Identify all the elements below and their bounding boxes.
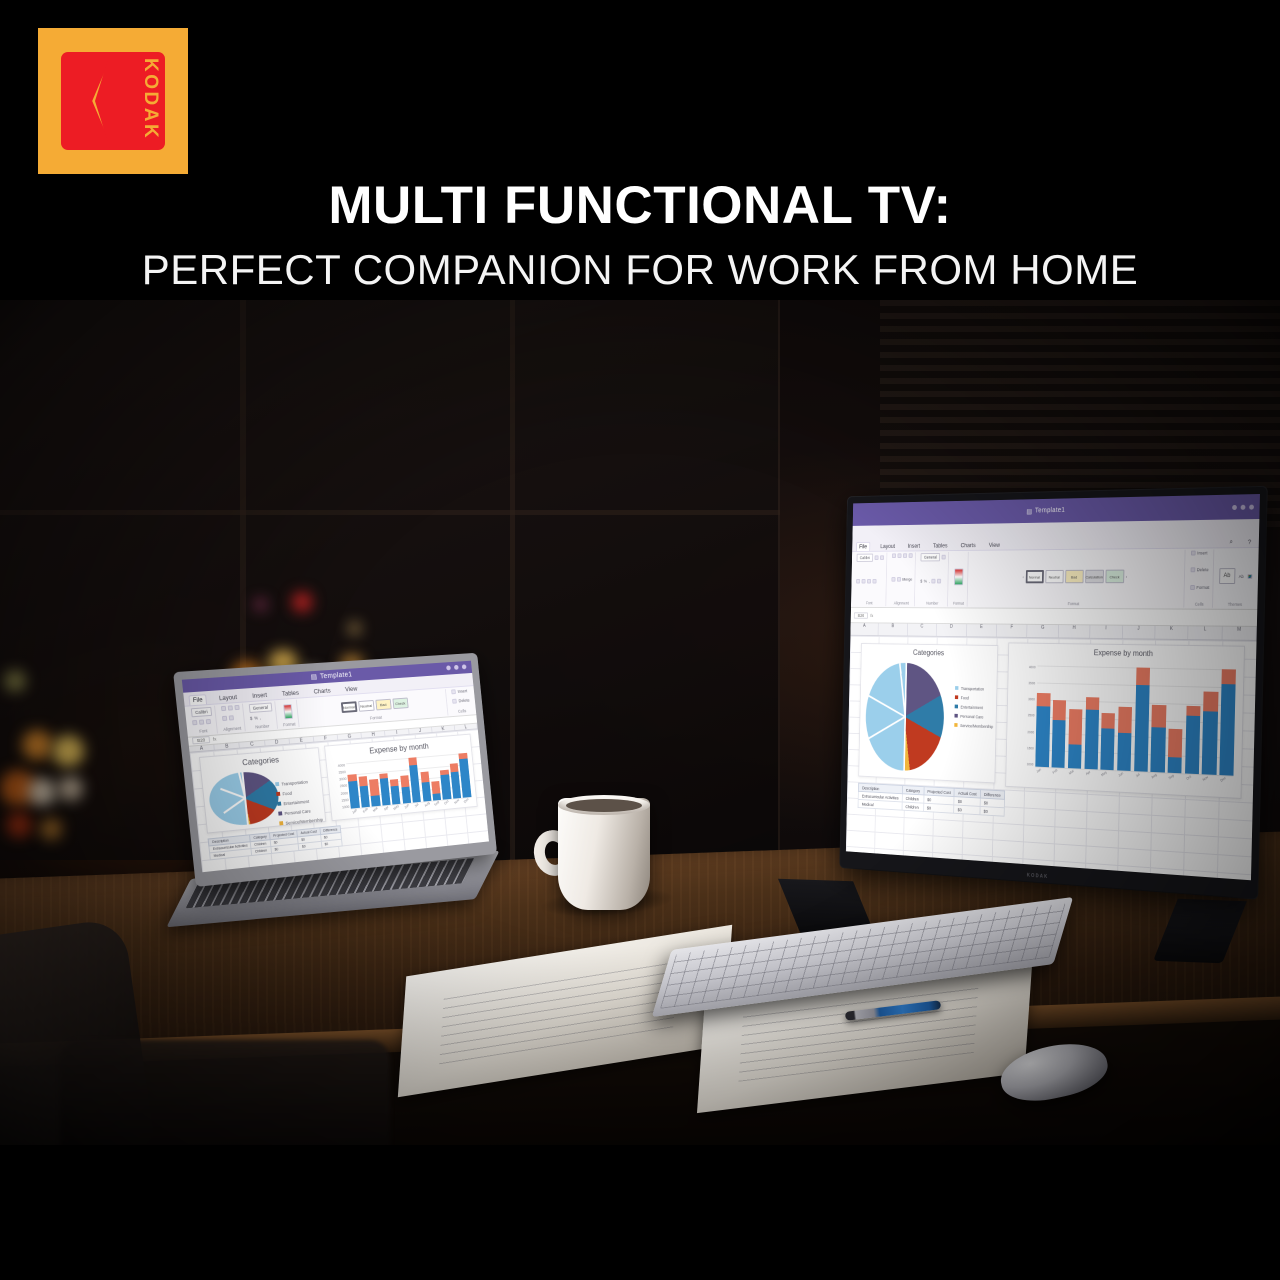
ribbon-group-label: Alignment [891, 601, 912, 606]
bar-segment-actual [1204, 692, 1219, 712]
ribbon-group-label: Font [856, 601, 883, 606]
underline-icon[interactable] [206, 719, 211, 724]
bar-segment-projected [1151, 727, 1166, 772]
style-normal[interactable]: Normal [341, 701, 358, 713]
app-title-text: Template1 [320, 671, 353, 680]
cell-difference[interactable]: $0 [980, 807, 1004, 817]
legend-item: Personal Care [278, 807, 322, 816]
column-header-j[interactable]: J [1122, 626, 1155, 639]
pie-graphic [865, 662, 945, 773]
page-subtitle: PERFECT COMPANION FOR WORK FROM HOME [0, 246, 1280, 294]
font-shrink-icon[interactable] [880, 555, 884, 560]
style-bad[interactable]: Bad [375, 699, 391, 711]
bokeh-light [4, 670, 26, 692]
name-box[interactable]: B20 [854, 612, 868, 618]
bar-segment-projected [1134, 685, 1150, 771]
bar-segment-actual [1168, 729, 1183, 757]
fill-color-icon[interactable] [873, 579, 877, 584]
bar-segment-projected [421, 781, 431, 801]
minimize-icon[interactable] [1232, 505, 1237, 510]
y-tick: 2000 [332, 791, 349, 796]
cell-category[interactable]: Children [902, 802, 924, 811]
bar-segment-projected [391, 786, 401, 805]
television: ▤ Template1 File Layout Insert [840, 487, 1267, 899]
bar-chart-body: 4000 3500 3000 2500 2000 1500 1000 [1006, 658, 1244, 798]
x-tick: Nov [1199, 773, 1219, 794]
ribbon-group-themes[interactable]: Ab Ab Themes [1215, 549, 1255, 608]
kodak-wordmark: KODAK [139, 58, 161, 140]
bokeh-light [292, 592, 312, 612]
kodak-k-mark: KODAK [61, 52, 165, 150]
delete-label: Delete [1197, 568, 1209, 573]
pie-chart-card[interactable]: Categories [199, 747, 326, 833]
percent-icon[interactable]: % [924, 579, 927, 584]
bar-chart-plot [1036, 666, 1237, 776]
bar-segment-projected [1185, 716, 1200, 774]
legend-item: Service/Membership [954, 723, 993, 729]
x-tick: Aug [423, 800, 433, 811]
tab-charts[interactable]: Charts [310, 686, 333, 696]
worksheet-grid[interactable]: Categories [190, 730, 489, 873]
bar-segment-projected [1101, 728, 1115, 769]
y-tick: 2000 [1010, 729, 1035, 734]
promo-scene: ▤ Template1 File Layout Insert [0, 0, 1280, 1280]
themes-icon[interactable]: Ab [1219, 568, 1235, 584]
legend-label: Transportation [281, 779, 308, 786]
bar-segment-projected [409, 764, 421, 802]
legend-label: Personal Care [960, 714, 983, 719]
column-header-c[interactable]: C [908, 624, 938, 636]
column-header-d[interactable]: D [937, 624, 967, 636]
bar-segment-actual [431, 781, 440, 794]
bar-oct [440, 770, 451, 800]
tab-tables[interactable]: Tables [930, 542, 950, 551]
gallery-next-icon[interactable]: › [1126, 574, 1127, 579]
bar-segment-projected [1068, 744, 1082, 768]
x-tick: Feb [1049, 766, 1067, 786]
ribbon-group-conditional[interactable]: Format [951, 552, 969, 607]
bokeh-light [40, 818, 62, 840]
ribbon-group-label: Number [920, 601, 945, 606]
close-icon[interactable] [1249, 504, 1254, 509]
y-tick: 3000 [1010, 697, 1035, 701]
ribbon-group-label: Cells [453, 708, 471, 714]
legend-label: Entertainment [283, 799, 309, 806]
help-icon[interactable]: ? [1245, 538, 1254, 547]
ribbon-group-styles[interactable]: ‹ Normal Neutral Bad Calculation Check › [970, 550, 1186, 608]
column-header-a[interactable]: A [850, 624, 879, 636]
ribbon-group-label: Themes [1218, 602, 1251, 607]
x-tick: Dec [463, 796, 473, 807]
name-box[interactable]: B20 [192, 736, 210, 744]
align-left-icon[interactable] [221, 706, 226, 711]
cell-category[interactable]: Children [251, 846, 271, 855]
delete-cells-icon[interactable] [1190, 568, 1195, 573]
currency-icon[interactable]: $ [920, 579, 922, 584]
conditional-formatting-icon[interactable] [283, 704, 293, 719]
style-calculation[interactable]: Calculation [1085, 570, 1104, 583]
bar-apr [1084, 697, 1099, 769]
y-tick: 3500 [329, 770, 346, 775]
legend-item: Transportation [955, 686, 994, 692]
ribbon-group-cells[interactable]: Insert Delete Cells [449, 687, 474, 715]
worksheet-grid[interactable]: Categories [846, 636, 1257, 880]
bar-segment-projected [348, 780, 359, 808]
style-normal[interactable]: Normal [1025, 570, 1043, 583]
bar-segment-actual [1118, 707, 1132, 733]
style-neutral[interactable]: Neutral [358, 700, 374, 712]
tab-file[interactable]: File [856, 542, 870, 551]
x-tick: May [392, 803, 402, 814]
legend-label: Personal Care [284, 808, 311, 815]
x-tick: Jun [402, 802, 412, 813]
comma-icon[interactable]: , [929, 579, 930, 584]
aa-theme-icon[interactable]: Ab [1239, 574, 1244, 579]
column-header-f[interactable]: F [997, 625, 1028, 637]
y-tick: 2500 [331, 784, 348, 789]
insert-label: Insert [1197, 551, 1207, 556]
align-right-icon[interactable] [903, 553, 907, 558]
ribbon-group-label: Format [953, 601, 964, 606]
page-title: MULTI FUNCTIONAL TV: [0, 175, 1280, 236]
x-tick: May [1098, 768, 1117, 788]
bar-jan [1036, 693, 1051, 767]
window-controls[interactable] [446, 665, 466, 671]
align-center-icon[interactable] [227, 705, 232, 710]
delete-label: Delete [458, 698, 469, 704]
pie-graphic [207, 769, 281, 828]
font-name-box[interactable]: Calibri [191, 707, 212, 717]
x-tick: Sep [433, 799, 443, 810]
wrap-text-icon[interactable] [222, 716, 227, 721]
tab-charts[interactable]: Charts [958, 542, 978, 551]
bokeh-light [254, 598, 267, 611]
cell-difference[interactable]: $0 [321, 839, 342, 848]
legend-label: Food [961, 695, 969, 700]
bokeh-light [22, 730, 52, 760]
bar-segment-projected [441, 774, 452, 799]
style-neutral[interactable]: Neutral [1045, 570, 1063, 583]
legend-label: Food [282, 790, 292, 796]
insert-label: Insert [457, 688, 467, 693]
column-header-i[interactable]: I [1090, 626, 1122, 639]
bar-sep [1168, 729, 1183, 773]
column-header-k[interactable]: K [1155, 626, 1189, 639]
y-tick: 1500 [1009, 745, 1034, 750]
bar-jun [1117, 707, 1132, 771]
bar-segment-projected [401, 786, 411, 803]
y-tick: 3500 [1011, 681, 1036, 685]
x-tick: Mar [371, 805, 381, 816]
bar-segment-actual [1136, 668, 1150, 686]
x-tick: Jul [412, 801, 422, 812]
currency-icon[interactable]: $ [250, 716, 253, 721]
x-tick: Feb [361, 806, 371, 817]
ribbon-group-number[interactable]: General $ % , Number [246, 701, 278, 731]
kodak-logo: KODAK [38, 28, 188, 174]
merge-cells-icon[interactable] [229, 716, 234, 721]
tab-tables[interactable]: Tables [279, 689, 302, 699]
tab-view[interactable]: View [986, 541, 1002, 550]
wrap-text-icon[interactable] [908, 553, 912, 558]
bar-segment-projected [1220, 684, 1236, 776]
indent-icon[interactable] [891, 577, 895, 582]
bar-segment-actual [369, 779, 379, 796]
bar-feb [358, 777, 370, 808]
underline-icon[interactable] [867, 579, 871, 584]
bar-segment-projected [1084, 709, 1099, 769]
column-header-g[interactable]: G [1027, 625, 1058, 638]
tab-insert[interactable]: Insert [249, 691, 270, 701]
x-tick: Mar [1065, 767, 1083, 787]
style-check[interactable]: Check [392, 697, 408, 709]
ribbon-group-label: Format [283, 721, 296, 727]
bokeh-light [6, 812, 32, 838]
minimize-icon[interactable] [446, 666, 451, 671]
bar-mar [369, 779, 380, 806]
bar-segment-actual [1068, 709, 1082, 745]
cell-style-gallery[interactable]: Normal Neutral Bad Calculation Check [1025, 570, 1124, 584]
format-label: Format [1196, 585, 1209, 590]
mug-interior [566, 799, 642, 812]
tv-screen[interactable]: ▤ Template1 File Layout Insert [846, 494, 1260, 880]
number-format-select[interactable]: General [921, 553, 941, 561]
cell-actual[interactable]: $0 [954, 805, 980, 815]
fx-icon[interactable]: fx [213, 737, 217, 742]
bar-chart-y-axis: 4000 3500 3000 2500 2000 1500 1000 [1009, 665, 1036, 766]
x-tick: Jun [1114, 769, 1133, 789]
fx-icon[interactable]: fx [870, 613, 873, 618]
tv-bezel: ▤ Template1 File Layout Insert [840, 487, 1267, 899]
font-grow-icon[interactable] [874, 556, 878, 561]
y-tick: 1000 [333, 805, 350, 810]
bar-segment-projected [359, 786, 370, 808]
bar-dec [1220, 670, 1237, 776]
y-tick: 1500 [332, 798, 349, 803]
y-tick: 4000 [329, 763, 346, 768]
ribbon-group-alignment[interactable]: Alignment [218, 704, 246, 733]
x-tick: Apr [1081, 767, 1100, 787]
spreadsheet-app-tv: ▤ Template1 File Layout Insert [846, 494, 1260, 880]
x-tick: Dec [1217, 773, 1237, 794]
y-tick: 4000 [1011, 665, 1036, 669]
legend-label: Transportation [961, 686, 984, 691]
gallery-prev-icon[interactable]: ‹ [1023, 574, 1024, 579]
ribbon-group-number[interactable]: General $ % , Number [917, 552, 949, 606]
ribbon-group-label: Format [972, 601, 1180, 607]
ribbon-group-label: Number [251, 723, 274, 730]
bar-segment-projected [1052, 720, 1066, 768]
bar-segment-projected [1202, 711, 1218, 775]
italic-icon[interactable] [199, 720, 204, 725]
legend-item: Transportation [275, 778, 319, 787]
bar-jul [1134, 668, 1150, 772]
maximize-icon[interactable] [1241, 504, 1246, 509]
legend-item: Entertainment [277, 798, 321, 807]
bar-segment-projected [1036, 706, 1050, 767]
x-tick: Jan [351, 807, 361, 818]
ribbon-group-cells[interactable]: Insert Delete Format Cells [1187, 550, 1214, 608]
bokeh-light [348, 622, 361, 635]
delete-cells-icon[interactable] [452, 699, 457, 704]
legend-item: Food [955, 695, 994, 701]
bar-segment-projected [380, 778, 391, 805]
formula-input[interactable] [876, 615, 1254, 618]
bar-segment-actual [1053, 700, 1067, 721]
merge-cells-icon[interactable] [897, 577, 901, 582]
comma-icon[interactable]: , [260, 716, 262, 721]
cell-style-gallery[interactable]: Normal Neutral Bad Check [341, 697, 409, 713]
ribbon[interactable]: Calibri Font [851, 548, 1259, 610]
x-tick: Oct [443, 798, 453, 809]
bar-jun [400, 775, 411, 804]
tab-file[interactable]: File [188, 694, 207, 705]
bar-segment-actual [1085, 697, 1099, 709]
chevron-down-icon[interactable] [942, 555, 946, 560]
bar-oct [1185, 705, 1201, 773]
format-cells-icon[interactable] [1190, 585, 1195, 590]
ribbon-group-label: Font [193, 728, 214, 735]
decimal-increase-icon[interactable] [931, 579, 935, 584]
style-bad[interactable]: Bad [1065, 570, 1084, 583]
bar-series [1036, 666, 1237, 776]
bar-may [1101, 713, 1116, 770]
merge-label: Merge [902, 577, 912, 582]
paper-text-lines [439, 960, 678, 1065]
ribbon-group-label: Alignment [223, 725, 242, 731]
pie-chart-body: Transportation Food Entertainment Person… [202, 763, 325, 832]
column-header-l[interactable]: L [1188, 627, 1222, 640]
close-icon[interactable] [462, 665, 467, 670]
column-header-h[interactable]: H [1059, 626, 1091, 639]
insert-cells-icon[interactable] [451, 689, 456, 694]
bar-chart-card[interactable]: Expense by month 4000 3500 3000 2500 200… [324, 734, 477, 821]
app-icon: ▤ [310, 673, 317, 681]
y-tick: 1000 [1009, 761, 1034, 766]
x-tick: Jan [1033, 765, 1051, 785]
legend-label: Entertainment [960, 704, 983, 709]
legend-item: Entertainment [955, 704, 994, 710]
bar-may [390, 779, 401, 805]
bar-segment-actual [400, 775, 409, 787]
theme-colors-icon[interactable] [1248, 574, 1253, 579]
ribbon-group-label: Cells [1190, 602, 1209, 607]
style-check[interactable]: Check [1105, 570, 1124, 584]
spreadsheet-app-laptop: ▤ Template1 File Layout Insert [182, 661, 489, 873]
tab-layout[interactable]: Layout [216, 693, 241, 704]
bar-segment-projected [451, 771, 462, 798]
ribbon-group-font[interactable]: Calibri Font [853, 553, 887, 607]
bar-nov [1202, 692, 1218, 775]
x-tick: Sep [1165, 771, 1184, 792]
ribbon-search-icon[interactable]: ⌕ [1227, 537, 1236, 547]
app-icon: ▤ [1026, 507, 1032, 515]
bar-chart-card[interactable]: Expense by month 4000 3500 3000 2500 200… [1005, 643, 1245, 799]
ribbon-group-conditional[interactable]: Format [278, 700, 300, 729]
legend-label: Service/Membership [960, 723, 993, 729]
bold-icon[interactable] [856, 579, 860, 584]
bokeh-light [28, 778, 56, 806]
bokeh-light [52, 735, 84, 767]
bar-mar [1068, 709, 1083, 769]
window-controls[interactable] [1232, 504, 1254, 509]
pie-chart-body: Transportation Food Entertainment Person… [859, 657, 997, 782]
foreground-shadow [0, 1145, 1280, 1280]
pie-chart-card[interactable]: Categories [858, 643, 998, 784]
x-tick: Nov [453, 797, 463, 808]
legend-item: Personal Care [954, 713, 993, 719]
bar-segment-projected [459, 758, 471, 797]
bar-segment-actual [1102, 713, 1116, 729]
align-left-icon[interactable] [892, 554, 896, 559]
x-tick: Apr [382, 804, 392, 815]
app-title-text: Template1 [1035, 507, 1065, 514]
conditional-formatting-icon[interactable] [954, 569, 963, 586]
y-tick: 2500 [1010, 713, 1035, 718]
percent-icon[interactable]: % [254, 716, 258, 721]
insert-cells-icon[interactable] [1191, 551, 1196, 556]
tab-insert[interactable]: Insert [905, 542, 922, 550]
ribbon-group-alignment[interactable]: Merge Alignment [888, 552, 916, 606]
italic-icon[interactable] [862, 579, 866, 584]
bar-segment-actual [1037, 693, 1050, 707]
ribbon-group-font[interactable]: Calibri Font [188, 706, 218, 736]
tab-view[interactable]: View [342, 685, 360, 695]
bar-segment-actual [1222, 670, 1237, 684]
bar-segment-actual [1152, 704, 1166, 727]
laptop-lid: ▤ Template1 File Layout Insert [173, 653, 497, 887]
align-center-icon[interactable] [897, 554, 901, 559]
bold-icon[interactable] [192, 720, 197, 725]
laptop: ▤ Template1 File Layout Insert [196, 672, 526, 887]
bar-aug [1151, 704, 1166, 772]
cell-projected[interactable]: $0 [923, 803, 954, 813]
column-header-b[interactable]: B [879, 624, 908, 636]
number-format-select[interactable]: General [249, 703, 273, 714]
tab-layout[interactable]: Layout [878, 543, 898, 551]
laptop-screen[interactable]: ▤ Template1 File Layout Insert [182, 661, 489, 873]
decimal-decrease-icon[interactable] [937, 579, 941, 584]
y-tick: 3000 [330, 777, 347, 782]
bar-segment-projected [1117, 732, 1131, 770]
pie-chart-legend: Transportation Food Entertainment Person… [275, 778, 323, 826]
bar-aug [420, 772, 431, 802]
bar-sep [431, 781, 441, 800]
column-header-e[interactable]: E [967, 625, 997, 637]
maximize-icon[interactable] [454, 665, 459, 670]
font-name-box[interactable]: Calibri [857, 554, 873, 562]
align-right-icon[interactable] [234, 705, 239, 710]
bar-apr [379, 773, 391, 805]
bar-segment-actual [1186, 705, 1200, 716]
bokeh-light [58, 776, 83, 801]
bar-feb [1052, 700, 1067, 768]
column-header-m[interactable]: M [1222, 627, 1257, 640]
x-tick: Aug [1148, 770, 1167, 790]
legend-item: Food [276, 788, 320, 797]
pie-chart-legend: Transportation Food Entertainment Person… [954, 686, 994, 729]
